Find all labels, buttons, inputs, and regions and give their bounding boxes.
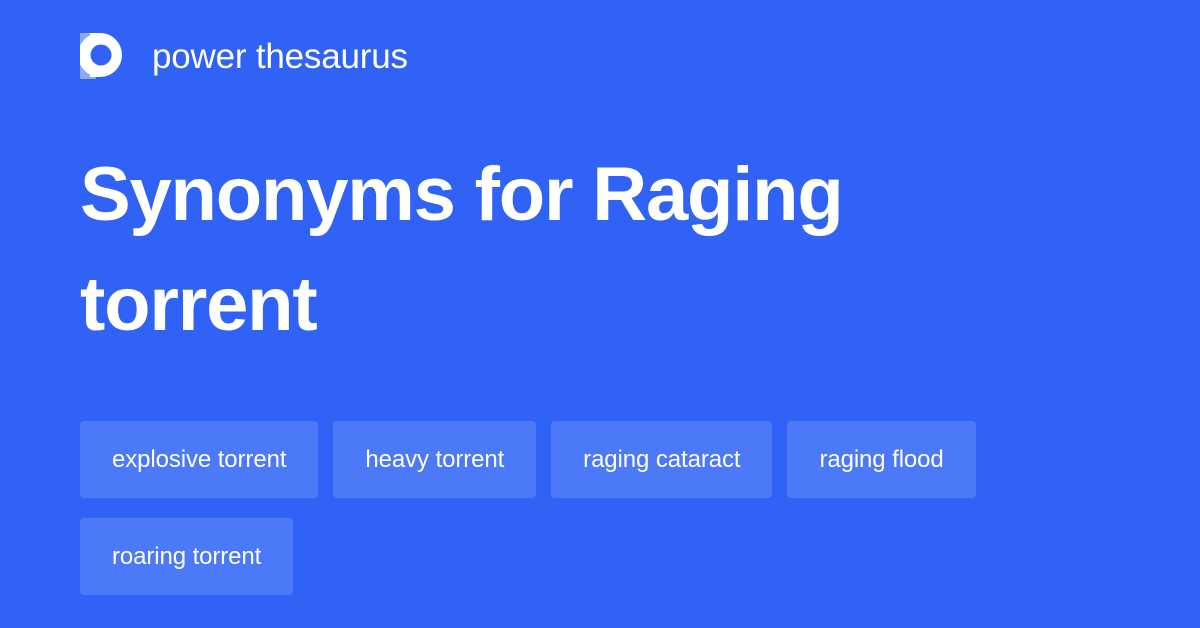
synonym-chip[interactable]: heavy torrent bbox=[333, 421, 536, 498]
synonym-chip[interactable]: raging cataract bbox=[551, 421, 772, 498]
synonym-chip[interactable]: explosive torrent bbox=[80, 421, 318, 498]
brand-logo[interactable]: power thesaurus bbox=[80, 28, 408, 84]
page-root: power thesaurus Synonyms for Raging torr… bbox=[0, 0, 1200, 628]
synonym-chip[interactable]: raging flood bbox=[787, 421, 975, 498]
synonym-chip-list: explosive torrent heavy torrent raging c… bbox=[80, 421, 1120, 595]
power-thesaurus-logo-icon bbox=[80, 33, 124, 79]
brand-name: power thesaurus bbox=[152, 39, 408, 74]
page-title: Synonyms for Raging torrent bbox=[80, 140, 980, 360]
synonym-chip[interactable]: roaring torrent bbox=[80, 518, 293, 595]
